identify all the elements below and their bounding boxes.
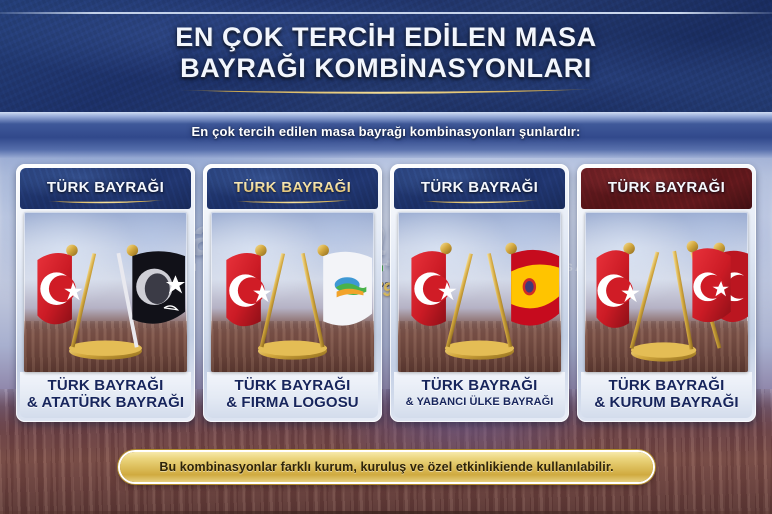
- card-caption-line2-2: & FIRMA LOGOSU: [210, 394, 375, 411]
- flag-illustration-turk-yabanci: [398, 212, 561, 372]
- flag-illustration-turk-firma: [211, 212, 374, 372]
- card-photo-3: [398, 212, 561, 372]
- card-header-2: TÜRK BAYRAĞI: [207, 168, 378, 209]
- card-caption-2: TÜRK BAYRAĞI & FIRMA LOGOSU: [207, 372, 378, 418]
- flag-illustration-turk-ataturk: [24, 212, 187, 372]
- card-header-4: TÜRK BAYRAĞI: [581, 168, 752, 209]
- poster-root: EN ÇOK TERCİH EDİLEN MASA BAYRAĞI KOMBİN…: [0, 0, 772, 514]
- card-caption-line1-4: TÜRK BAYRAĞI: [584, 377, 749, 394]
- card-caption-1: TÜRK BAYRAĞI & ATATÜRK BAYRAĞI: [20, 372, 191, 418]
- card-caption-line2-4: & KURUM BAYRAĞI: [584, 394, 749, 411]
- card-swoosh-icon-2: [231, 198, 354, 205]
- card-header-1: TÜRK BAYRAĞI: [20, 168, 191, 209]
- footer-note-banner: Bu kombinasyonlar farklı kurum, kuruluş …: [120, 452, 653, 482]
- card-photo-1: [24, 212, 187, 372]
- title-swoosh-ornament: [172, 86, 602, 97]
- footer-note-text: Bu kombinasyonlar farklı kurum, kuruluş …: [159, 460, 613, 474]
- card-caption-line1-2: TÜRK BAYRAĞI: [210, 377, 375, 394]
- flag-illustration-turk-kurum: [585, 212, 748, 372]
- card-turk-yabanci-ulke[interactable]: TÜRK BAYRAĞI: [390, 164, 569, 422]
- combination-cards-row: TÜRK BAYRAĞI: [0, 164, 772, 422]
- subtitle-text: En çok tercih edilen masa bayrağı kombin…: [0, 124, 772, 139]
- card-header-label-4: TÜRK BAYRAĞI: [608, 179, 725, 196]
- title-line-2: BAYRAĞI KOMBİNASYONLARI: [0, 53, 772, 84]
- header-hairline: [0, 12, 772, 14]
- title-line-1: EN ÇOK TERCİH EDİLEN MASA: [0, 22, 772, 53]
- card-turk-kurum[interactable]: TÜRK BAYRAĞI: [577, 164, 756, 422]
- card-photo-4: [585, 212, 748, 372]
- card-photo-2: [211, 212, 374, 372]
- card-caption-4: TÜRK BAYRAĞI & KURUM BAYRAĞI: [581, 372, 752, 418]
- card-caption-line2-1: & ATATÜRK BAYRAĞI: [23, 394, 188, 411]
- card-header-label-2: TÜRK BAYRAĞI: [234, 179, 351, 196]
- card-header-3: TÜRK BAYRAĞI: [394, 168, 565, 209]
- card-turk-firma-logosu[interactable]: TÜRK BAYRAĞI: [203, 164, 382, 422]
- card-swoosh-icon-3: [418, 198, 541, 205]
- card-header-label-3: TÜRK BAYRAĞI: [421, 179, 538, 196]
- page-title: EN ÇOK TERCİH EDİLEN MASA BAYRAĞI KOMBİN…: [0, 22, 772, 84]
- card-caption-line1-3: TÜRK BAYRAĞI: [397, 377, 562, 394]
- card-caption-line2-3: & YABANCI ÜLKE BAYRAĞI: [397, 394, 562, 411]
- card-swoosh-icon-1: [44, 198, 167, 205]
- card-caption-3: TÜRK BAYRAĞI & YABANCI ÜLKE BAYRAĞI: [394, 372, 565, 418]
- card-turk-ataturk[interactable]: TÜRK BAYRAĞI: [16, 164, 195, 422]
- card-header-label-1: TÜRK BAYRAĞI: [47, 179, 164, 196]
- card-caption-line1-1: TÜRK BAYRAĞI: [23, 377, 188, 394]
